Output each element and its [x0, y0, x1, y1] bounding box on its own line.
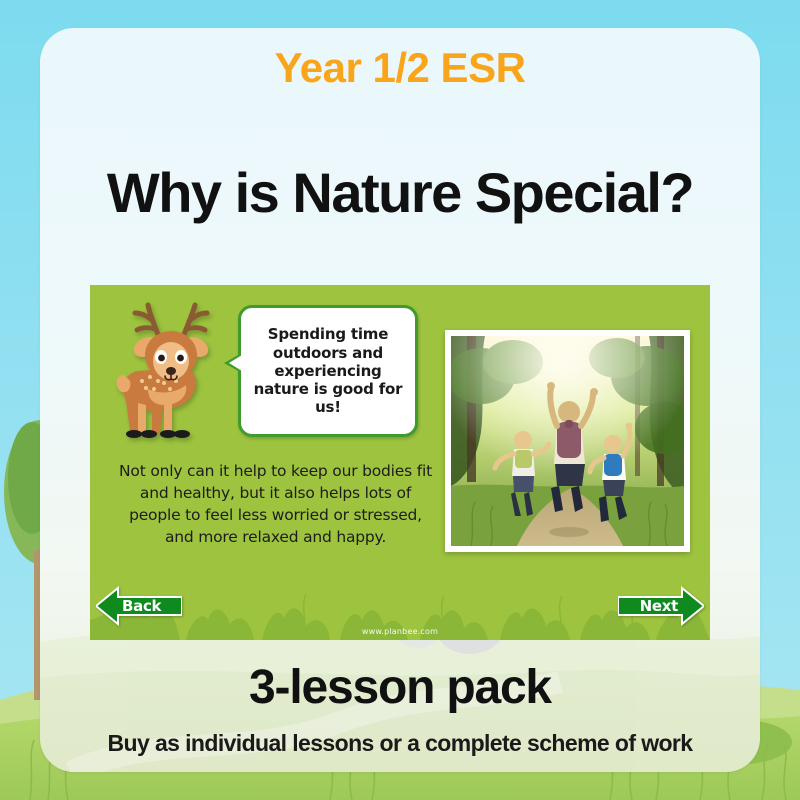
children-jumping-photo [451, 336, 684, 546]
footer-title: 3-lesson pack [0, 660, 800, 715]
back-button-label: Back [122, 597, 161, 615]
next-button[interactable]: Next [618, 586, 704, 626]
page-title: Why is Nature Special? [0, 160, 800, 225]
back-button[interactable]: Back [96, 586, 182, 626]
speech-bubble-text: Spending time outdoors and experiencing … [241, 321, 415, 420]
slide-preview[interactable]: Spending time outdoors and experiencing … [90, 285, 710, 640]
page-eyebrow: Year 1/2 ESR [0, 44, 800, 92]
speech-bubble: Spending time outdoors and experiencing … [238, 305, 418, 437]
photo-frame [445, 330, 690, 552]
deer-icon [108, 293, 233, 463]
watermark: www.planbee.com [90, 627, 710, 636]
next-button-label: Next [640, 597, 678, 615]
speech-bubble-tail-inner [229, 355, 242, 371]
slide-body-text: Not only can it help to keep our bodies … [118, 460, 433, 548]
footer-subtitle: Buy as individual lessons or a complete … [0, 730, 800, 757]
